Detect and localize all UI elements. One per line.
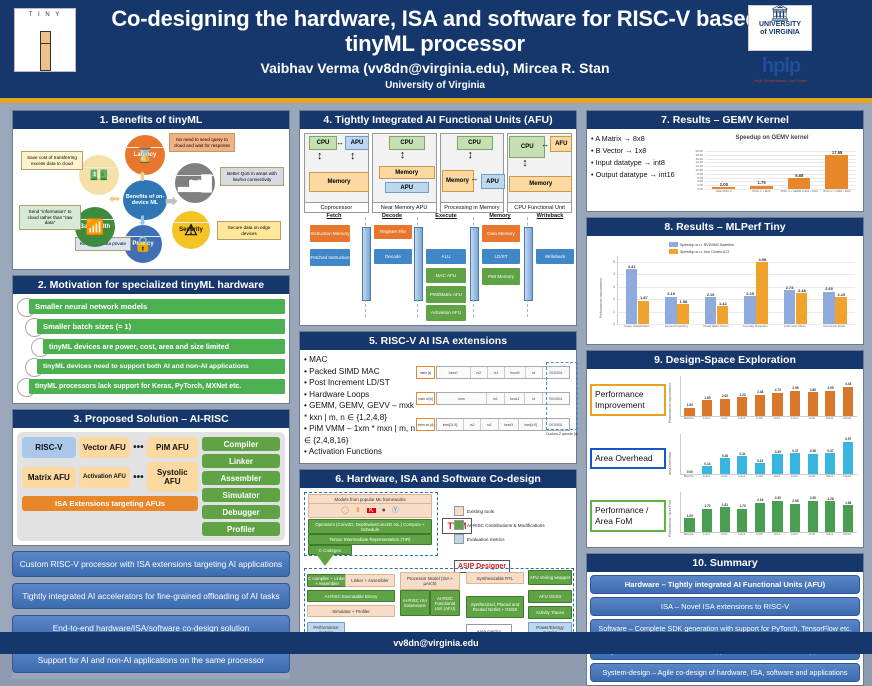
benefit-node-security: Security ⚠ (172, 211, 210, 249)
motivation-label: tinyML processors lack support for Keras… (29, 379, 285, 394)
flow-executable-binary: AI-RISC Executable Binary (307, 590, 395, 602)
tinyml-logo-bar (40, 43, 51, 71)
chart-bar (790, 504, 800, 532)
afu-variant-coprocessor: CPU ↔ APU ↕ ↕ Memory Coprocessor (304, 133, 369, 213)
chart-y-tick: 18.00 (685, 153, 703, 157)
legend-label: Evaluation metrics (467, 537, 505, 542)
afu-variant-caption: Near Memory APU (373, 202, 436, 212)
dse-label-fom: Performance / Area FoM (590, 500, 666, 532)
isa-bullet-label: GEMM, GEMV, GEVV – mxk * kxn | m, n ∈ {1… (304, 401, 414, 422)
section-isa-extensions-title: 5. RISC-V AI ISA extensions (300, 332, 576, 350)
flow-tir: Tensor Intermediate Representation (TIR) (308, 534, 432, 545)
gemv-bullet-label: A Matrix → 8x8 (595, 134, 644, 143)
dse-fom-chart: Performance / Area FoM 1.001.701.811.702… (666, 487, 860, 545)
pipeline-block-register-file: Register File (374, 225, 412, 239)
ellipsis-icon: ••• (133, 472, 144, 483)
dse-label-performance: Performance Improvement (590, 384, 666, 416)
isa-bullet-label: PiM VMM – 1xm * mxn | m, n ∈ {2,4,8,16} (304, 424, 415, 445)
block-activation-afu: Activation AFU (79, 467, 130, 488)
chart-y-tick: 5 (591, 260, 615, 264)
isa-bullet-label: Hardware Loops (309, 390, 369, 399)
dse-perf-y-title: Performance improvement (668, 383, 672, 423)
chart-bar (772, 454, 782, 474)
afu-row-2: Matrix AFU Activation AFU ••• Systolic A… (22, 462, 198, 492)
chart-x-label: Geometric Mean (812, 325, 858, 329)
tool-assembler: Assembler (202, 471, 280, 485)
tinyml-logo: T I N Y (14, 8, 76, 72)
flow-simulator-profiler: Simulator + Profiler (307, 605, 395, 617)
block-memory: Memory (379, 166, 435, 179)
chart-bar-value: 2.28 (822, 497, 839, 501)
legend-contributions: AI-RISC Contributions & Modifications (454, 520, 545, 530)
arrow-right-icon: ⮕ (165, 191, 178, 210)
tinyml-logo-text: T I N Y (15, 9, 75, 18)
flow-c-compiler: C compiler + Linker + Assembler (307, 574, 347, 587)
arrow-bidir-icon: ↔ (336, 138, 344, 148)
isa-encoding-diagram: mem [s] funct7 rs2 rs1 funct3 rd 0010001… (416, 354, 572, 459)
section-isa-extensions: 5. RISC-V AI ISA extensions • MAC • Pack… (299, 331, 577, 464)
chart-bar (772, 393, 782, 416)
section-summary-title: 10. Summary (587, 554, 863, 572)
summary-item-isa: ISA – Novel ISA extensions to RISC-V (590, 597, 860, 616)
flow-activity-traces: Activity Traces (528, 606, 572, 619)
isa-bullet: • Activation Functions (304, 446, 416, 458)
block-memory: Memory (509, 176, 572, 192)
chart-bar (788, 178, 811, 189)
chart-bar-value: 2.16 (752, 498, 769, 502)
pipeline-dotted-line (365, 299, 366, 317)
legend-swatch-icon (454, 534, 464, 544)
poster-canvas: T I N Y Co-designing the hardware, ISA a… (0, 0, 872, 654)
benefit-callout-qos: Better QoS in areas with low/no connecti… (220, 167, 284, 186)
chart-bar-value: 0.35 (769, 450, 786, 454)
middle-column: 4. Tightly Integrated AI Functional Unit… (299, 110, 577, 652)
chart-bar-value: 0.14 (699, 462, 716, 466)
chart-y-tick: 0.00 (685, 187, 703, 191)
chart-y-tick: 3 (591, 285, 615, 289)
gemv-bullet-label: B Vector → 1x8 (596, 146, 647, 155)
legend-existing-tools: Existing tools (454, 506, 494, 516)
encoding-field: rs1 (488, 367, 505, 378)
dse-label-area: Area Overhead (590, 448, 666, 469)
afu-variant-caption: Processing in Memory (441, 202, 504, 212)
arrow-down-icon: ⬇ (137, 213, 148, 229)
chart-bar-value: 2.30 (805, 496, 822, 500)
chart-bar (717, 306, 729, 324)
chart-bar-value: 2.80 (805, 388, 822, 392)
section-mlperf-results: 8. Results – MLPerf Tiny Performance imp… (586, 217, 864, 345)
arrow-up-icon: ⬆ (137, 169, 148, 185)
codesign-flow-diagram: Models from popular ML frameworks ◯ ⬆ K … (304, 492, 572, 642)
isa-extensions-bar: ISA Extensions targeting AFUs (22, 496, 198, 511)
chart-bar-value: 2.95 (822, 386, 839, 390)
tensorflow-icon: ⬆ (355, 508, 361, 513)
encoding-op-label: mem.ld [b] (416, 392, 435, 405)
chart-bar (843, 505, 853, 532)
encoding-op-label: mem.sd [d] (416, 418, 435, 431)
section-proposed-solution-title: 3. Proposed Solution – AI-RISC (13, 410, 289, 428)
poster-authors: Vaibhav Verma (vv8dn@virginia.edu), Mirc… (110, 60, 760, 76)
gemv-bullet-label: Input datatype → int8 (596, 158, 665, 167)
legend-swatch-icon (454, 506, 464, 516)
encoding-field: imm[11:5] (437, 419, 464, 430)
arrow-bidir-icon: ↔ (471, 174, 479, 184)
pipeline-register-fetch-decode (362, 227, 371, 301)
chart-bar-value: 1.00 (681, 514, 698, 518)
pipeline-block-pim-matrix-afu: PIM/Matrix AFU (426, 286, 466, 303)
uva-logo-line1: UNIVERSITY (749, 21, 811, 29)
uva-rotunda-icon: 🏛 (749, 6, 811, 21)
isa-bullet-list: • MAC • Packed SIMD MAC • Post Increment… (304, 354, 416, 459)
chart-bar-value: 0.31 (734, 452, 751, 456)
motivation-item: Smaller batch sizes (≈ 1) (15, 319, 285, 336)
chart-bar-value: 4.41 (623, 264, 641, 269)
chart-bar-value: 2.72 (769, 388, 786, 392)
warning-shield-icon: ⚠ (172, 222, 210, 238)
section-afu-title: 4. Tightly Integrated AI Functional Unit… (300, 111, 576, 129)
chart-bar (720, 507, 730, 532)
gold-divider (0, 98, 872, 103)
pipeline-register-decode-execute (414, 227, 423, 301)
pipeline-dotted-line (527, 217, 528, 231)
chart-bar-value: 1.00 (681, 403, 698, 407)
chart-bar-value: 1.81 (717, 503, 734, 507)
section-benefits-title: 1. Benefits of tinyML (13, 111, 289, 129)
chart-x-label: 16x4x4 (835, 533, 859, 537)
section-afu: 4. Tightly Integrated AI Functional Unit… (299, 110, 577, 326)
legend-label: Speedup w.r.t. Arm Cortex-A72 (680, 250, 729, 254)
block-systolic-afu: Systolic AFU (147, 462, 198, 492)
chart-bar (737, 397, 747, 416)
chart-bar (638, 301, 650, 324)
arrow-bidir-vertical-icon: ↕ (522, 158, 528, 168)
arrow-bidir-vertical-icon: ↕ (350, 151, 356, 161)
chart-bar-value: 1.85 (699, 396, 716, 400)
pipeline-stage-fetch: Fetch (308, 213, 360, 219)
pipeline-register-execute-memory (470, 227, 479, 301)
chart-bar-value: 0.37 (822, 449, 839, 453)
legend-swatch-icon (669, 242, 678, 247)
isa-bullet-label: Post Increment LD/ST (309, 378, 390, 387)
chart-bar-value: 2.48 (793, 288, 811, 293)
flow-processor-model: Processor Model (ISA + µArch) (400, 572, 460, 590)
block-memory: Memory (442, 170, 474, 192)
isa-bullet-label: Packed SIMD MAC (309, 367, 380, 376)
chart-y-tick: 2 (591, 297, 615, 301)
chart-bar (702, 466, 712, 474)
chart-gridline (618, 299, 855, 300)
wifi-icon: 📶 (75, 219, 115, 235)
block-memory: Memory (309, 172, 369, 192)
ellipsis-icon: ••• (133, 442, 144, 453)
chart-x-label: 16x4x4 (835, 417, 859, 421)
chart-bar (677, 304, 689, 324)
chart-x-label: 16x4x4 (835, 475, 859, 479)
afu-variant-caption: Coprocessor (305, 202, 368, 212)
chart-y-tick: 1 (591, 310, 615, 314)
chart-bar (750, 186, 773, 189)
mxnet-icon: Ⓨ (392, 508, 399, 513)
chart-bar-value: 2.23 (734, 393, 751, 397)
encoding-field: imm (437, 393, 487, 404)
tool-simulator: Simulator (202, 488, 280, 502)
pipeline-block-fetched-instruction: Fetched Instruction (310, 249, 350, 266)
takeaway-item: Custom RISC-V processor with ISA extensi… (12, 551, 290, 577)
section-motivation: 2. Motivation for specialized tinyML har… (12, 275, 290, 404)
pytorch-icon: ◯ (341, 508, 349, 513)
chart-bar-value: 0.36 (805, 449, 822, 453)
chart-bar-value: 2.08 (787, 499, 804, 503)
pipeline-dotted-line (417, 299, 418, 317)
afu-variant-near-memory: CPU ↕ Memory APU Near Memory APU (372, 133, 437, 213)
chart-gridline (618, 274, 855, 275)
summary-item-system-design: System-design – Agile co-design of hardw… (590, 663, 860, 682)
motivation-label: Smaller neural network models (29, 299, 285, 314)
chart-bar (756, 262, 768, 324)
encoding-op-label: mem [s] (416, 366, 435, 379)
chart-bar (772, 501, 782, 532)
encoding-field: funct3 (499, 419, 520, 430)
chart-bar-value: 5.68 (785, 173, 814, 178)
arrow-bidir-icon: ↔ (541, 140, 549, 150)
encoding-field: funct3 (505, 367, 526, 378)
block-afu: AFU (550, 136, 572, 152)
chart-bar (835, 297, 847, 324)
isa-bullet-label: MAC (309, 355, 327, 364)
mlperf-legend-arm: Speedup w.r.t. Arm Cortex-A72 (669, 249, 729, 254)
chart-bar-value: 2.30 (769, 496, 786, 500)
legend-swatch-icon (454, 520, 464, 530)
tool-linker: Linker (202, 454, 280, 468)
block-pim-afu: PiM AFU (147, 437, 198, 458)
poster-footer: vv8dn@virginia.edu (0, 632, 872, 654)
block-riscv: RISC-V (22, 437, 76, 458)
chart-bar-value: 3.43 (840, 382, 857, 386)
chart-gridline (618, 312, 855, 313)
chart-bar-value: 0.57 (840, 437, 857, 441)
hplp-logo-text: hplp (746, 55, 816, 78)
chart-bar (808, 392, 818, 416)
poster-header: T I N Y Co-designing the hardware, ISA a… (0, 0, 872, 98)
chart-bar (755, 463, 765, 474)
isa-bullet: • Packed SIMD MAC (304, 366, 416, 378)
afu-variant-functional-unit: CPU ↔ AFU ↕ Memory CPU Functional Unit (507, 133, 572, 213)
signal-bars-icon: ▂▅█ (175, 175, 215, 191)
chart-x-label: RISC-V + VMM + MAC (815, 190, 859, 194)
motivation-item: tinyML processors lack support for Keras… (15, 379, 285, 396)
uva-logo-line2: of VIRGINIA (749, 29, 811, 37)
isa-bullet: • PiM VMM – 1xm * mxn | m, n ∈ {2,4,8,16… (304, 423, 416, 446)
takeaway-item: Tightly integrated AI accelerators for f… (12, 583, 290, 609)
motivation-item: tinyML devices need to support both AI a… (15, 359, 285, 376)
chart-bar (755, 503, 765, 532)
pipeline-stage-writeback: Writeback (524, 213, 576, 219)
chart-bar (790, 391, 800, 416)
dse-performance-chart: Performance improvement 1.001.852.022.23… (666, 371, 860, 429)
encoding-field: funct7 (437, 367, 471, 378)
dse-area-chart: Area Overhead 0.000.140.280.310.190.350.… (666, 429, 860, 487)
right-column: 7. Results – GEMV Kernel • A Matrix → 8x… (586, 110, 864, 686)
motivation-label: tinyML devices need to support both AI a… (37, 359, 285, 374)
chart-bar (684, 408, 694, 417)
chart-y-tick: 16.00 (685, 157, 703, 161)
benefit-callout-latency: No need to send query to cloud and wait … (169, 133, 235, 152)
chart-bar-value: 1.87 (635, 295, 653, 300)
legend-label: Speedup w.r.t. RV64IMC Baseline (680, 243, 734, 247)
section-dse: 9. Design-Space Exploration Performance … (586, 350, 864, 548)
framework-icons: ◯ ⬆ K ● Ⓨ (308, 503, 432, 518)
chart-y-tick: 4.00 (685, 179, 703, 183)
isa-bullet-label: Activation Functions (309, 447, 382, 456)
section-codesign: 6. Hardware, ISA and Software Co-design … (299, 469, 577, 647)
pipeline-register-memory-writeback (524, 227, 533, 301)
afu-variant-caption: CPU Functional Unit (508, 202, 571, 212)
chart-bar (796, 293, 808, 324)
arrow-down-icon (316, 554, 334, 566)
tool-debugger: Debugger (202, 505, 280, 519)
chart-bar (737, 509, 747, 532)
gemv-bullet-label: Output datatype → int16 (596, 170, 675, 179)
chart-y-tick: 4 (591, 272, 615, 276)
ai-risc-architecture: RISC-V Vector AFU ••• PiM AFU Matrix AFU… (17, 432, 285, 541)
section-gemv-results-title: 7. Results – GEMV Kernel (587, 111, 863, 129)
chart-y-tick: 0 (591, 322, 615, 326)
section-benefits: 1. Benefits of tinyML Benefits of on-dev… (12, 110, 290, 270)
tool-compiler: Compiler (202, 437, 280, 451)
arrow-bidir-vertical-icon: ↕ (468, 150, 474, 160)
chart-bar-value: 0.37 (787, 449, 804, 453)
motivation-item: Smaller neural network models (15, 299, 285, 316)
isa-bullet: • GEMM, GEMV, GEVV – mxk * kxn | m, n ∈ … (304, 400, 416, 423)
pipeline-dotted-line (473, 217, 474, 231)
benefit-node-bandwidth: Bandwidth 📶 (75, 207, 115, 247)
pipeline-block-alu: ALU (426, 249, 466, 264)
chart-bar-value: 2.19 (662, 291, 680, 296)
pipeline-stage-decode: Decode (366, 213, 418, 219)
chart-bar-value: 0.00 (681, 470, 698, 474)
section-proposed-solution: 3. Proposed Solution – AI-RISC RISC-V Ve… (12, 409, 290, 546)
motivation-item: tinyML devices are power, cost, area and… (15, 339, 285, 356)
dse-area-row: Area Overhead Area Overhead 0.000.140.28… (590, 429, 860, 487)
gemv-bullet: • Output datatype → int16 (591, 169, 681, 181)
chart-bar-value: 4.98 (753, 257, 771, 262)
chart-bar (843, 387, 853, 416)
left-column: 1. Benefits of tinyML Benefits of on-dev… (12, 110, 290, 679)
summary-item-hardware: Hardware – Tightly integrated AI Functio… (590, 575, 860, 594)
chart-bar (825, 391, 835, 416)
onnx-icon: ● (382, 508, 386, 513)
chart-bar (702, 400, 712, 416)
dse-fom-y-title: Performance / Area FoM (668, 500, 672, 537)
legend-label: Existing tools (467, 509, 494, 514)
legend-label: AI-RISC Contributions & Modifications (467, 523, 545, 528)
block-apu: APU (385, 182, 429, 193)
chart-gridline (618, 262, 855, 263)
chart-bar-value: 1.00 (709, 182, 738, 187)
block-apu: APU (481, 174, 505, 189)
isa-bullet: • Hardware Loops (304, 389, 416, 401)
mlperf-legend-baseline: Speedup w.r.t. RV64IMC Baseline (669, 242, 734, 247)
money-icon: 💵 (79, 167, 119, 183)
chart-y-tick: 8.00 (685, 172, 703, 176)
chart-y-tick: 20.00 (685, 149, 703, 153)
benefit-node-qos: QoS ▂▅█ (175, 163, 215, 203)
pipeline-dotted-line (365, 217, 366, 231)
chart-bar (843, 442, 853, 474)
pipeline-block-mac-afu: MAC AFU (426, 268, 466, 283)
chart-y-tick: 12.00 (685, 164, 703, 168)
gemv-chart-title: Speedup on GEMV kernel (685, 133, 859, 141)
flow-isa-extensions: AI-RISC ISA Extensions (400, 590, 430, 616)
pipeline-dotted-line (473, 299, 474, 317)
chart-y-tick: 6.00 (685, 176, 703, 180)
chart-bar (737, 456, 747, 474)
pipeline-dotted-line (417, 217, 418, 231)
dse-area-y-title: Area Overhead (668, 452, 672, 475)
dse-fom-row: Performance / Area FoM Performance / Are… (590, 487, 860, 545)
chart-bar-value: 1.98 (840, 501, 857, 505)
section-gemv-results: 7. Results – GEMV Kernel • A Matrix → 8x… (586, 110, 864, 212)
chart-bar-value: 2.02 (717, 394, 734, 398)
arrow-left-icon: ⬅ (109, 191, 120, 207)
block-vector-afu: Vector AFU (79, 437, 130, 458)
benefit-callout-bandwidth: Send “information” to cloud rather than … (19, 205, 81, 230)
chart-bar (755, 395, 765, 416)
section-codesign-title: 6. Hardware, ISA and Software Co-design (300, 470, 576, 488)
chart-bar (808, 501, 818, 532)
chart-bar-value: 1.75 (747, 180, 776, 185)
keras-icon: K (367, 508, 376, 513)
chart-bar-value: 2.15 (832, 292, 850, 297)
encoding-field: rs2 (471, 367, 488, 378)
poster-affiliation: University of Virginia (110, 80, 760, 91)
gemv-bullet: • A Matrix → 8x8 (591, 133, 681, 145)
chart-bar (684, 518, 694, 532)
chart-bar (720, 399, 730, 416)
afu-variants: CPU ↔ APU ↕ ↕ Memory Coprocessor CPU ↕ (304, 133, 572, 213)
chart-bar-value: 1.42 (714, 301, 732, 306)
encoding-field: rd (525, 393, 542, 404)
hplp-logo: hplp High Performance Low Power (746, 55, 816, 83)
pipeline-block-decode: Decode (374, 249, 412, 264)
isa-bullet: • Post Increment LD/ST (304, 377, 416, 389)
chart-bar-value: 1.58 (674, 299, 692, 304)
isa-bullet: • MAC (304, 354, 416, 366)
chart-bar (825, 501, 835, 532)
block-cpu: CPU (457, 136, 493, 150)
encoding-field: imm[4:0] (519, 419, 543, 430)
chart-bar-value: 2.16 (702, 292, 720, 297)
legend-evaluation-metrics: Evaluation metrics (454, 534, 505, 544)
pipeline-block-writeback: Writeback (536, 249, 574, 264)
section-summary: 10. Summary Hardware – Tightly integrate… (586, 553, 864, 686)
chart-bar (712, 187, 735, 189)
encoding-field: rs1 (487, 393, 504, 404)
flow-linker-assembler: Linker + Assembler (345, 574, 395, 587)
chart-y-tick: 10.00 (685, 168, 703, 172)
tool-profiler: Profiler (202, 522, 280, 536)
pipeline-stage-execute: Execute (420, 213, 472, 219)
chart-bar-value: 0.28 (717, 454, 734, 458)
flow-afu-gdsii: AFU GDSII (528, 590, 572, 603)
block-matrix-afu: Matrix AFU (22, 467, 76, 488)
flow-synthesized-netlist: Synthesized, Placed and Routed Netlist +… (466, 596, 524, 618)
pipeline-block-data-memory: Data Memory (482, 225, 520, 242)
afu-row-1: RISC-V Vector AFU ••• PiM AFU (22, 437, 198, 458)
uva-logo: 🏛 UNIVERSITY of VIRGINIA (748, 5, 812, 51)
pipeline-stage-memory: Memory (474, 213, 526, 219)
chart-bar-value: 1.70 (699, 504, 716, 508)
